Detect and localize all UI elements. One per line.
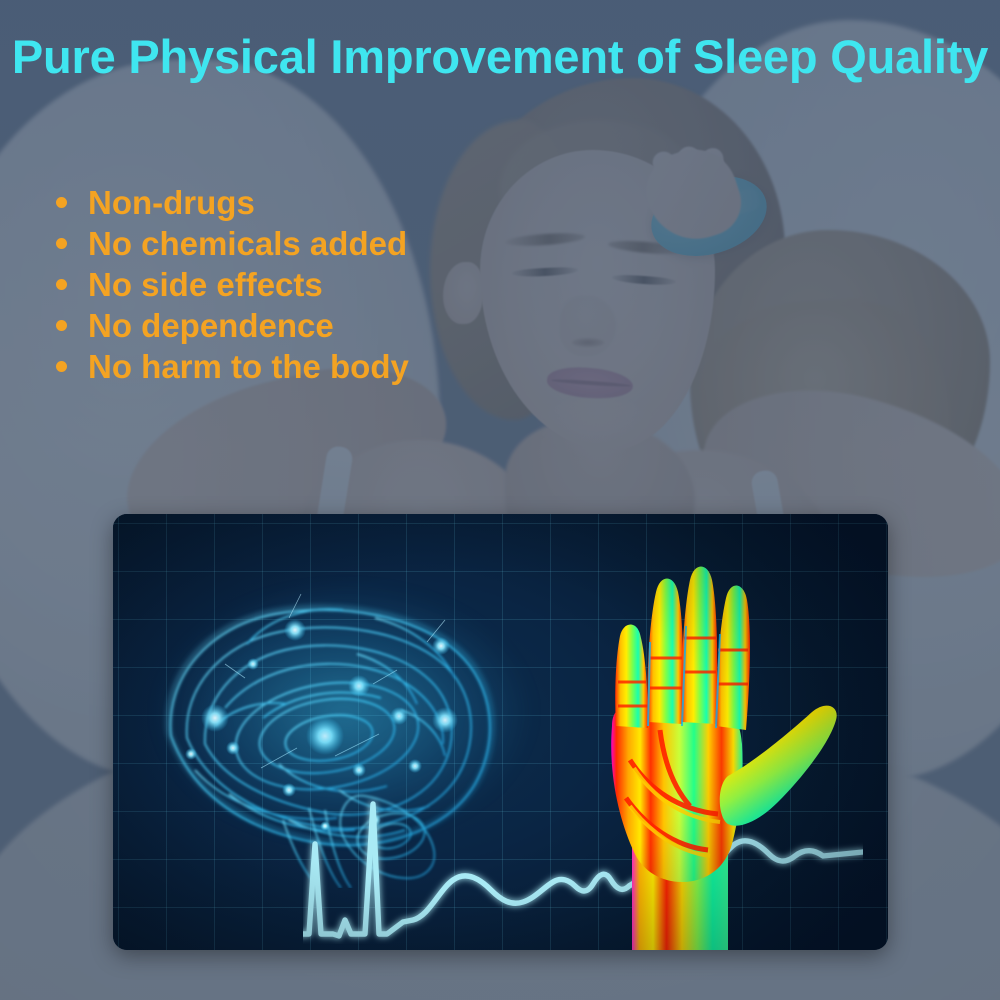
bullet-dot-icon <box>56 320 67 331</box>
bullet-dot-icon <box>56 197 67 208</box>
diagram-panel <box>113 514 888 950</box>
bullet-dot-icon <box>56 279 67 290</box>
poster-canvas: Pure Physical Improvement of Sleep Quali… <box>0 0 1000 1000</box>
panel-vignette <box>113 514 888 950</box>
bullet-dot-icon <box>56 361 67 372</box>
list-item: No dependence <box>56 305 409 346</box>
benefit-label: No dependence <box>88 309 334 342</box>
benefit-label: Non-drugs <box>88 186 255 219</box>
list-item: No chemicals added <box>56 223 409 264</box>
benefit-label: No chemicals added <box>88 227 407 260</box>
page-title: Pure Physical Improvement of Sleep Quali… <box>0 32 1000 81</box>
list-item: No side effects <box>56 264 409 305</box>
list-item: No harm to the body <box>56 346 409 387</box>
benefits-list: Non-drugs No chemicals added No side eff… <box>56 182 409 387</box>
bullet-dot-icon <box>56 238 67 249</box>
benefit-label: No side effects <box>88 268 323 301</box>
benefit-label: No harm to the body <box>88 350 409 383</box>
list-item: Non-drugs <box>56 182 409 223</box>
